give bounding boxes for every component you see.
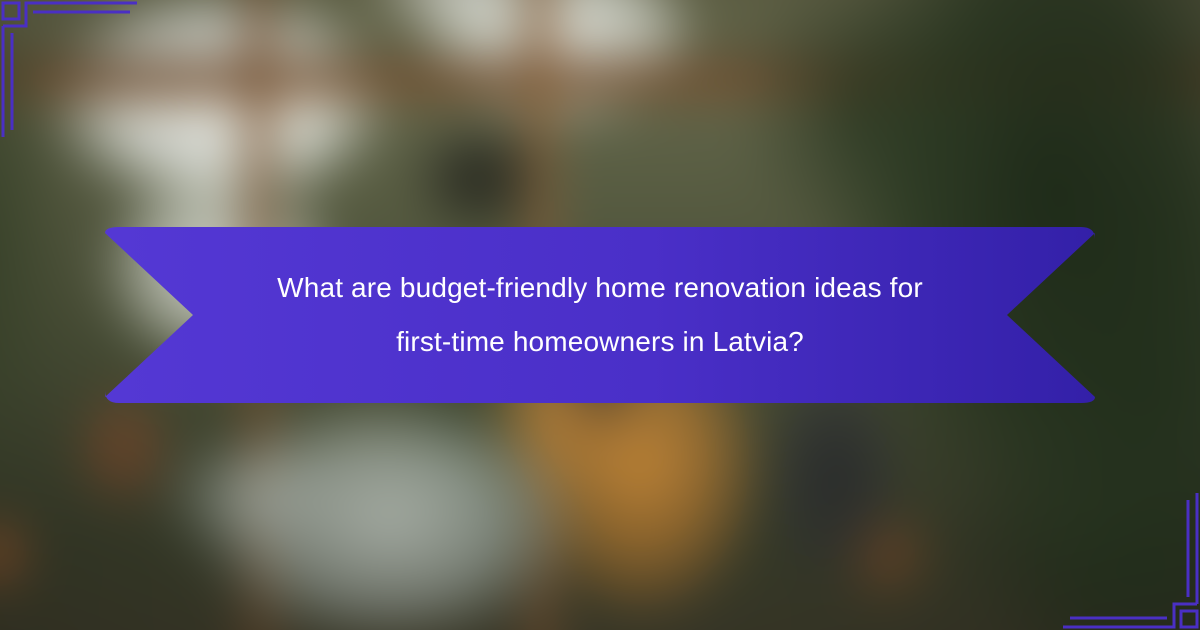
question-banner: What are budget-friendly home renovation… <box>105 227 1095 403</box>
screenshot-canvas: What are budget-friendly home renovation… <box>0 0 1200 630</box>
banner-question-line-1: What are budget-friendly home renovation… <box>277 261 923 315</box>
corner-bracket-top-left <box>0 0 170 170</box>
corner-bracket-bottom-right <box>1030 460 1200 630</box>
banner-question-text: What are budget-friendly home renovation… <box>105 227 1095 403</box>
corner-bracket-bottom-right-icon <box>1030 460 1200 630</box>
corner-bracket-top-left-icon <box>0 0 170 170</box>
banner-question-line-2: first-time homeowners in Latvia? <box>396 315 804 369</box>
